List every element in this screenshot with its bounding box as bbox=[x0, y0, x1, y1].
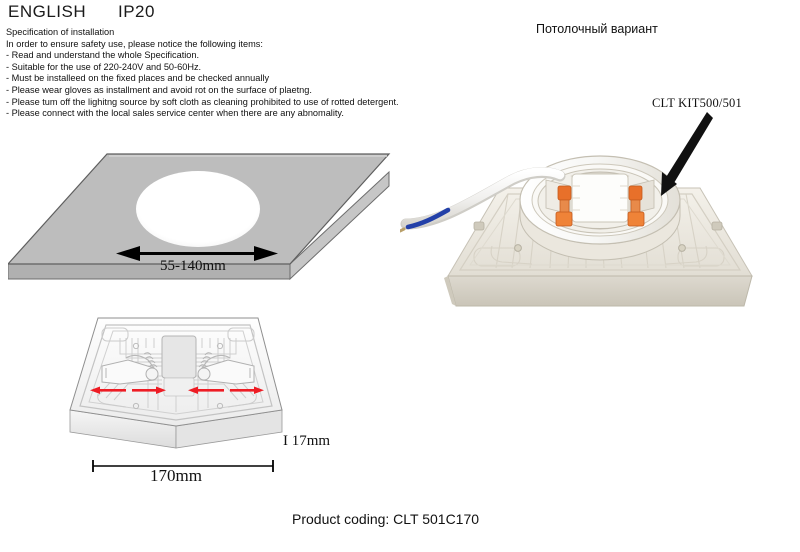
spec-title: Specification of installation bbox=[6, 27, 426, 39]
kit-callout-arrow bbox=[655, 110, 725, 200]
spec-item: - Please wear gloves as installment and … bbox=[6, 85, 426, 97]
screw-left bbox=[515, 245, 522, 252]
thickness-dimension-label: I 17mm bbox=[283, 433, 330, 450]
cable-copper-tip bbox=[400, 229, 404, 231]
spec-item: - Please connect with the local sales se… bbox=[6, 108, 426, 120]
panel-front-edge bbox=[8, 264, 290, 279]
kit-base-plate-edge bbox=[448, 276, 752, 306]
terminal-block bbox=[572, 174, 628, 222]
ceiling-cutout-diagram bbox=[8, 142, 403, 317]
panel-cutout-hole bbox=[136, 171, 260, 247]
product-coding-label: Product coding: CLT 501C170 bbox=[292, 511, 479, 527]
spec-item: - Please tum off the lighitng source by … bbox=[6, 97, 426, 109]
spec-item: - Suitable for the use of 220-240V and 5… bbox=[6, 62, 426, 74]
spec-intro: In order to ensure safety use, please no… bbox=[6, 39, 426, 51]
page-title-language: ENGLISH bbox=[8, 2, 86, 22]
fixture-back-diagram bbox=[58, 310, 298, 455]
width-dimension-label: 170mm bbox=[150, 466, 202, 486]
spec-item: - Must be installeed on the fixed places… bbox=[6, 73, 426, 85]
kit-callout-label: CLT KIT500/501 bbox=[652, 96, 742, 111]
cutout-dimension-label: 55-140mm bbox=[160, 258, 226, 275]
ip-rating-label: IP20 bbox=[118, 2, 155, 22]
driver-box bbox=[162, 336, 196, 378]
screw-right bbox=[679, 245, 686, 252]
ceiling-kit-diagram bbox=[400, 128, 795, 328]
spec-item: - Read and understand the whole Specific… bbox=[6, 50, 426, 62]
specification-block: Specification of installation In order t… bbox=[6, 27, 426, 120]
ceiling-variant-label: Потолочный вариант bbox=[536, 22, 658, 36]
